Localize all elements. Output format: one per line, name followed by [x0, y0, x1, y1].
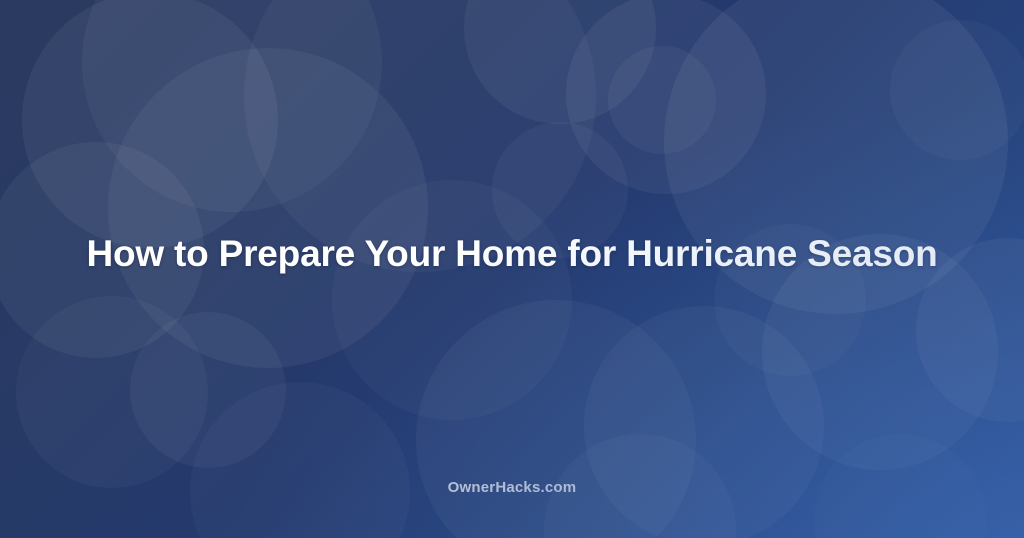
- brand-watermark: OwnerHacks.com: [0, 479, 1024, 496]
- banner-content: How to Prepare Your Home for Hurricane S…: [0, 0, 1024, 538]
- social-share-banner: How to Prepare Your Home for Hurricane S…: [0, 0, 1024, 538]
- page-title: How to Prepare Your Home for Hurricane S…: [0, 232, 1024, 276]
